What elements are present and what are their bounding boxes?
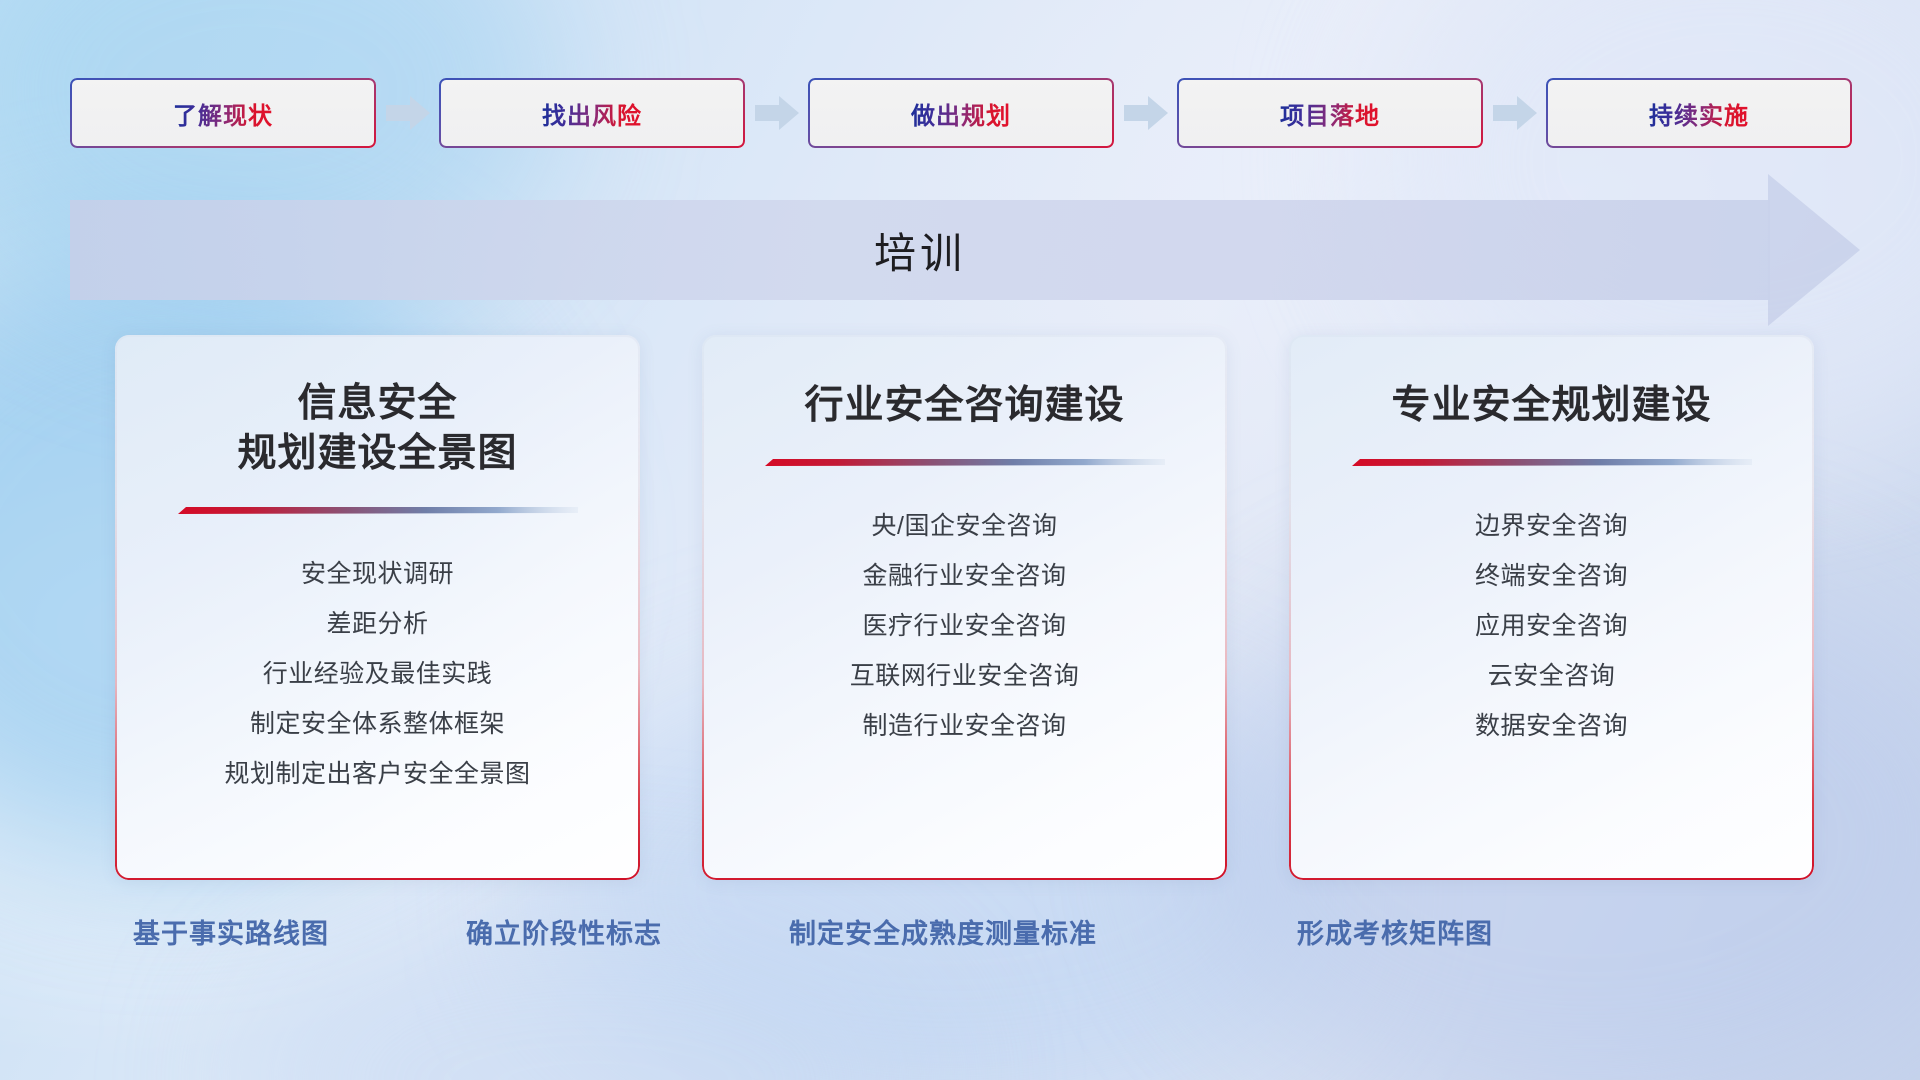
card-item-list: 边界安全咨询 终端安全咨询 应用安全咨询 云安全咨询 数据安全咨询 [1289,501,1814,751]
flow-step-5[interactable]: 持续实施 [1546,78,1852,148]
flow-step-label: 找出风险 [542,96,642,131]
bottom-label-milestones: 确立阶段性标志 [466,912,662,951]
process-flow: 了解现状 找出风险 做出规划 项目落地 [70,78,1852,148]
list-item: 应用安全咨询 [1475,601,1628,651]
flow-step-3[interactable]: 做出规划 [808,78,1114,148]
arrow-right-icon [1124,96,1168,130]
flow-arrow-4 [1483,94,1546,132]
list-item: 行业经验及最佳实践 [263,649,493,699]
list-item: 医疗行业安全咨询 [862,601,1066,651]
banner-title: 培训 [70,200,1770,300]
card-divider-wrap [1289,457,1814,471]
flow-arrow-2 [745,94,808,132]
flow-step-label: 了解现状 [173,96,273,131]
training-banner: 培训 [70,200,1860,300]
flow-arrow-3 [1114,94,1177,132]
banner-arrow-head-icon [1768,174,1860,326]
bottom-label-assessment-matrix: 形成考核矩阵图 [1297,912,1493,951]
list-item: 数据安全咨询 [1475,701,1628,751]
infographic-slide: 了解现状 找出风险 做出规划 项目落地 [0,0,1920,1080]
flow-step-label: 做出规划 [911,96,1011,131]
list-item: 制定安全体系整体框架 [250,699,505,749]
flow-step-4[interactable]: 项目落地 [1177,78,1483,148]
flow-step-label: 项目落地 [1280,96,1380,131]
flow-step-2[interactable]: 找出风险 [439,78,745,148]
card-item-list: 央/国企安全咨询 金融行业安全咨询 医疗行业安全咨询 互联网行业安全咨询 制造行… [702,501,1227,751]
card-title: 专业安全规划建设 [1391,381,1711,431]
card-professional-security-planning[interactable]: 专业安全规划建设 [1289,335,1814,880]
list-item: 央/国企安全咨询 [872,501,1058,551]
gradient-divider-icon [178,505,578,519]
bottom-label-maturity-standard: 制定安全成熟度测量标准 [789,912,1097,951]
gradient-divider-icon [765,457,1165,471]
list-item: 差距分析 [326,599,428,649]
card-title: 行业安全咨询建设 [804,381,1124,431]
list-item: 制造行业安全咨询 [862,701,1066,751]
card-divider-wrap [702,457,1227,471]
arrow-right-icon [755,96,799,130]
list-item: 互联网行业安全咨询 [850,651,1080,701]
card-industry-security-consulting[interactable]: 行业安全咨询建设 [702,335,1227,880]
flow-arrow-1 [376,94,439,132]
list-item: 金融行业安全咨询 [862,551,1066,601]
flow-step-1[interactable]: 了解现状 [70,78,376,148]
list-item: 终端安全咨询 [1475,551,1628,601]
card-title: 信息安全 规划建设全景图 [237,379,517,479]
gradient-divider-icon [1352,457,1752,471]
bottom-label-row: 基于事实路线图 确立阶段性标志 制定安全成熟度测量标准 形成考核矩阵图 [0,912,1920,962]
list-item: 安全现状调研 [301,549,454,599]
list-item: 规划制定出客户安全全景图 [224,749,530,799]
arrow-right-icon [1493,96,1537,130]
card-information-security-panorama[interactable]: 信息安全 规划建设全景图 [115,335,640,880]
flow-step-label: 持续实施 [1649,96,1749,131]
card-row: 信息安全 规划建设全景图 [115,335,1815,880]
card-divider-wrap [115,505,640,519]
card-item-list: 安全现状调研 差距分析 行业经验及最佳实践 制定安全体系整体框架 规划制定出客户… [115,549,640,799]
bottom-label-roadmap: 基于事实路线图 [133,912,329,951]
list-item: 边界安全咨询 [1475,501,1628,551]
list-item: 云安全咨询 [1488,651,1616,701]
arrow-right-icon [386,96,430,130]
